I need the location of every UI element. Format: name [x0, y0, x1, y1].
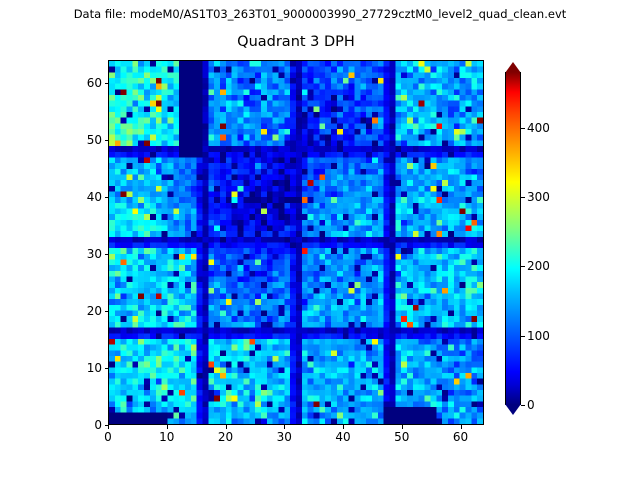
colorbar-tick-label: 200	[527, 259, 550, 273]
x-tick-label: 10	[147, 430, 187, 444]
page-title: Quadrant 3 DPH	[108, 33, 484, 51]
data-file-suptitle: Data file: modeM0/AS1T03_263T01_90000039…	[0, 7, 640, 21]
x-tick-mark	[402, 425, 403, 429]
x-tick-label: 0	[88, 430, 128, 444]
x-tick-label: 40	[323, 430, 363, 444]
heatmap-image	[109, 61, 483, 424]
colorbar-tick-label: 100	[527, 329, 550, 343]
matplotlib-figure: Data file: modeM0/AS1T03_263T01_90000039…	[0, 0, 640, 480]
y-tick-label: 0	[94, 418, 102, 432]
colorbar-tick-mark	[521, 336, 525, 337]
y-tick-mark	[105, 254, 109, 255]
y-tick-mark	[105, 311, 109, 312]
colorbar-under-arrow-icon	[505, 404, 521, 415]
x-tick-label: 20	[206, 430, 246, 444]
x-tick-label: 30	[264, 430, 304, 444]
colorbar	[505, 62, 521, 415]
y-tick-label: 50	[87, 133, 102, 147]
colorbar-tick-mark	[521, 197, 525, 198]
x-tick-mark	[226, 425, 227, 429]
y-tick-label: 10	[87, 361, 102, 375]
y-tick-mark	[105, 425, 109, 426]
y-tick-label: 30	[87, 247, 102, 261]
colorbar-tick-mark	[521, 266, 525, 267]
colorbar-tick-mark	[521, 405, 525, 406]
y-tick-label: 60	[87, 76, 102, 90]
y-tick-mark	[105, 197, 109, 198]
heatmap-axes	[108, 60, 484, 425]
colorbar-tick-mark	[521, 128, 525, 129]
x-tick-mark	[108, 425, 109, 429]
x-tick-mark	[284, 425, 285, 429]
colorbar-tick-label: 400	[527, 121, 550, 135]
x-tick-mark	[343, 425, 344, 429]
colorbar-gradient	[505, 72, 521, 405]
x-tick-label: 50	[382, 430, 422, 444]
colorbar-tick-label: 0	[527, 398, 535, 412]
y-tick-label: 20	[87, 304, 102, 318]
x-tick-mark	[461, 425, 462, 429]
x-tick-mark	[167, 425, 168, 429]
y-tick-mark	[105, 368, 109, 369]
y-tick-label: 40	[87, 190, 102, 204]
y-tick-mark	[105, 140, 109, 141]
colorbar-tick-label: 300	[527, 190, 550, 204]
x-tick-label: 60	[441, 430, 481, 444]
y-tick-mark	[105, 83, 109, 84]
